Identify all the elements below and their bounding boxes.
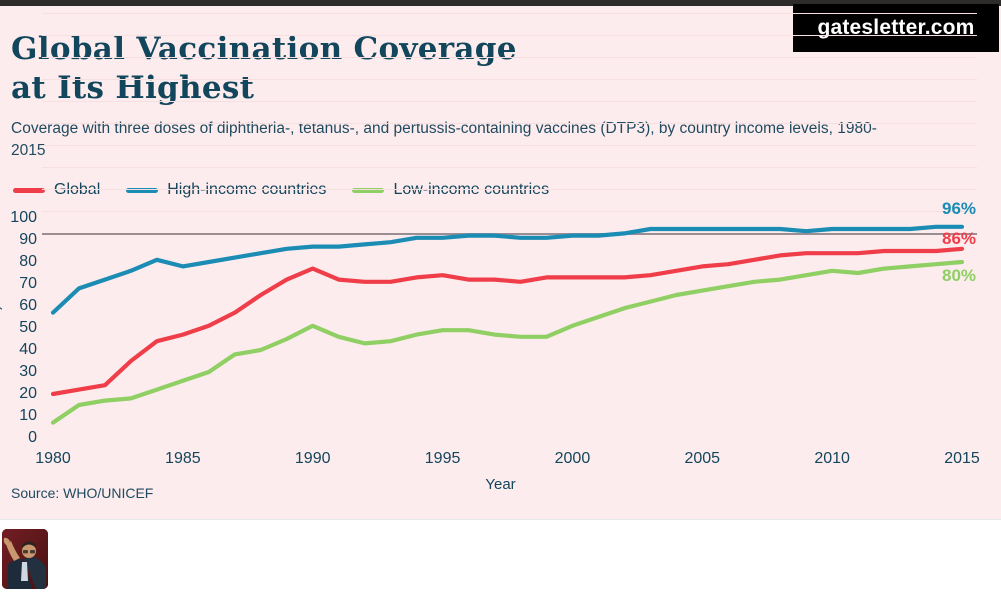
- y-axis-tick-label: 10: [0, 407, 37, 425]
- x-axis-tick-label: 1980: [18, 450, 88, 468]
- x-axis-tick-label: 1990: [278, 450, 348, 468]
- x-axis-line: [42, 233, 977, 235]
- gridline: [42, 145, 977, 146]
- series-line-global: [53, 249, 962, 394]
- end-label-high-income-countries: 96%: [942, 199, 976, 219]
- y-axis-tick-label: 70: [0, 275, 37, 293]
- x-axis-tick-label: 2010: [797, 450, 867, 468]
- gridline: [42, 211, 977, 212]
- gridline: [42, 101, 977, 102]
- x-axis-tick-label: 2015: [927, 450, 997, 468]
- gridline: [42, 79, 977, 80]
- x-axis-tick-label: 1985: [148, 450, 218, 468]
- gridline: [42, 167, 977, 168]
- chart-card: gatesletter.com Global Vaccination Cover…: [0, 0, 1001, 519]
- gridline: [42, 57, 977, 58]
- end-label-global: 86%: [942, 229, 976, 249]
- series-line-low-income-countries: [53, 262, 962, 423]
- y-axis-tick-label: 40: [0, 341, 37, 359]
- source-note: Source: WHO/UNICEF: [11, 485, 153, 501]
- end-label-low-income-countries: 80%: [942, 266, 976, 286]
- y-axis-title: ): [0, 305, 3, 310]
- y-axis-tick-label: 80: [0, 253, 37, 271]
- chart-grid: [0, 0, 1001, 245]
- gridline: [42, 35, 977, 36]
- x-axis-tick-label: 1995: [408, 450, 478, 468]
- gridline: [42, 189, 977, 190]
- screenshot-root: gatesletter.com Global Vaccination Cover…: [0, 0, 1001, 607]
- x-axis-tick-label: 2000: [537, 450, 607, 468]
- y-axis-tick-label: 0: [0, 429, 37, 447]
- x-axis-tick-label: 2005: [667, 450, 737, 468]
- y-axis-tick-label: 20: [0, 385, 37, 403]
- avatar[interactable]: [2, 529, 48, 589]
- gridline: [42, 123, 977, 124]
- y-axis-tick-label: 60: [0, 297, 37, 315]
- y-axis-tick-label: 50: [0, 319, 37, 337]
- y-axis-tick-label: 30: [0, 363, 37, 381]
- tweet-card[interactable]: Gorka Orive, PhD@gorka_orive · 5h #Vacci…: [0, 519, 1001, 607]
- gridline: [42, 13, 977, 14]
- y-axis-tick-label: 90: [0, 231, 37, 249]
- y-axis-tick-label: 100: [0, 209, 37, 227]
- x-axis-ticks: 19801985199019952000200520102015: [0, 450, 1001, 472]
